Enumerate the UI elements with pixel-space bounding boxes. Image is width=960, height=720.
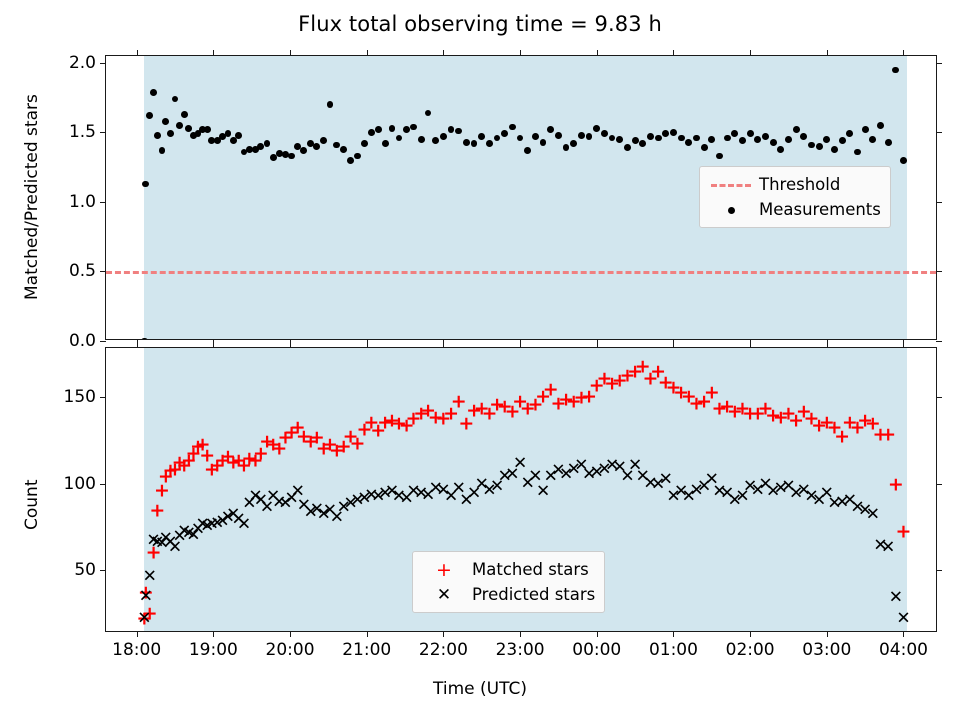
y-axis-title-count: Count: [22, 480, 42, 531]
legend-label-threshold: Threshold: [755, 175, 840, 194]
y-tick: [100, 132, 106, 133]
x-tick-top: [367, 50, 368, 56]
x-tick: [673, 631, 674, 637]
y-tick-label: 1.5: [69, 122, 96, 142]
x-tick-top: [367, 342, 368, 348]
x-tick-top: [290, 342, 291, 348]
data-point: [754, 136, 761, 143]
legend-item-threshold[interactable]: Threshold: [707, 172, 881, 197]
data-point: +: [888, 476, 904, 495]
data-point: [340, 146, 347, 153]
data-point: ✕: [536, 484, 550, 501]
data-point: [313, 143, 320, 150]
data-point: [762, 133, 769, 140]
x-tick-label: 02:00: [726, 640, 775, 660]
y-tick-right: [936, 484, 942, 485]
y-tick: [100, 202, 106, 203]
data-point: [578, 132, 585, 139]
x-tick: [443, 631, 444, 637]
data-point: ✕: [137, 611, 151, 628]
legend-label-predicted-stars: Predicted stars: [468, 585, 595, 604]
data-point: [854, 149, 861, 156]
data-point: [463, 139, 470, 146]
data-point: [204, 126, 211, 133]
data-point: [181, 111, 188, 118]
data-point: [185, 125, 192, 132]
legend-label-matched-stars: Matched stars: [468, 560, 589, 579]
y-tick-label: 150: [64, 387, 96, 407]
x-tick-top: [520, 342, 521, 348]
data-point: [418, 136, 425, 143]
data-point: ✕: [513, 456, 527, 473]
data-point: [616, 136, 623, 143]
y-tick-label: 100: [64, 474, 96, 494]
y-tick-right: [936, 132, 942, 133]
x-tick-top: [673, 342, 674, 348]
y-tick-right: [936, 63, 942, 64]
data-point: [739, 137, 746, 144]
x-tick-top: [750, 342, 751, 348]
legend-label-measurements: Measurements: [755, 200, 881, 219]
y-tick-right: [936, 271, 942, 272]
x-tick-top: [903, 342, 904, 348]
data-point: [382, 140, 389, 147]
x-tick-top: [827, 342, 828, 348]
y-tick-label: 0.0: [69, 331, 96, 351]
data-point: [486, 140, 493, 147]
legend-item-measurements[interactable]: Measurements: [707, 197, 881, 222]
data-point: [235, 132, 242, 139]
page-title: Flux total observing time = 9.83 h: [0, 12, 960, 36]
x-tick-label: 23:00: [496, 640, 545, 660]
data-point: [159, 147, 166, 154]
data-point: ✕: [143, 569, 157, 586]
x-tick: [367, 631, 368, 637]
data-point: [708, 136, 715, 143]
x-tick: [827, 631, 828, 637]
data-point: [869, 136, 876, 143]
cross-marker-icon: ✕: [420, 585, 468, 605]
data-point: [808, 142, 815, 149]
figure-canvas: Flux total observing time = 9.83 h 0.00.…: [0, 0, 960, 720]
y-tick-right: [936, 397, 942, 398]
y-tick-label: 0.5: [69, 261, 96, 281]
x-tick-top: [137, 342, 138, 348]
x-tick: [597, 631, 598, 637]
data-point: [361, 140, 368, 147]
x-tick-top: [213, 50, 214, 56]
y-tick-right: [936, 202, 942, 203]
y-tick-right: [936, 570, 942, 571]
data-point: [655, 135, 662, 142]
data-point: [831, 146, 838, 153]
data-point: [793, 126, 800, 133]
data-point: [770, 139, 777, 146]
y-tick-right: [936, 341, 942, 342]
y-tick: [100, 570, 106, 571]
y-tick-label: 2.0: [69, 53, 96, 73]
data-point: +: [880, 425, 896, 444]
x-tick-label: 20:00: [266, 640, 315, 660]
x-tick-label: 01:00: [649, 640, 698, 660]
data-point: [524, 147, 531, 154]
x-tick-top: [443, 50, 444, 56]
data-point: [389, 125, 396, 132]
data-point: [839, 137, 846, 144]
data-point: [701, 144, 708, 151]
y-tick-label: 50: [74, 560, 96, 580]
x-tick-label: 03:00: [802, 640, 851, 660]
data-point: +: [149, 502, 165, 521]
x-tick-label: 04:00: [879, 640, 928, 660]
data-point: [724, 135, 731, 142]
plus-marker-icon: +: [420, 559, 468, 581]
threshold-line: [106, 271, 936, 274]
y-tick: [100, 484, 106, 485]
data-point: [862, 126, 869, 133]
x-tick: [290, 631, 291, 637]
data-point: [823, 136, 830, 143]
data-point: [785, 136, 792, 143]
data-point: [440, 133, 447, 140]
data-point: [647, 133, 654, 140]
data-point: [678, 135, 685, 142]
x-axis-title: Time (UTC): [0, 679, 960, 699]
y-axis-title-ratio: Matched/Predicted stars: [22, 94, 42, 300]
data-point: [403, 126, 410, 133]
data-point: [777, 146, 784, 153]
data-point: [747, 130, 754, 137]
legend-count-panel[interactable]: + Matched stars ✕ Predicted stars: [412, 551, 605, 613]
x-tick-top: [750, 50, 751, 56]
y-tick: [100, 397, 106, 398]
data-point: [693, 135, 700, 142]
data-point: [685, 139, 692, 146]
data-point: [885, 139, 892, 146]
legend-item-predicted-stars[interactable]: ✕ Predicted stars: [420, 582, 595, 607]
data-point: [375, 126, 382, 133]
x-tick: [903, 631, 904, 637]
data-point: ✕: [889, 590, 903, 607]
data-point: ✕: [866, 506, 880, 523]
data-point: +: [451, 392, 467, 411]
x-tick-label: 00:00: [572, 640, 621, 660]
data-point: [624, 144, 631, 151]
data-point: [593, 125, 600, 132]
data-point: [154, 132, 161, 139]
y-tick: [100, 63, 106, 64]
x-tick-top: [597, 50, 598, 56]
data-point: [900, 157, 907, 164]
x-tick-label: 19:00: [189, 640, 238, 660]
x-tick-top: [903, 50, 904, 56]
data-point: ✕: [139, 588, 153, 605]
x-tick: [213, 631, 214, 637]
data-point: [150, 89, 157, 96]
data-point: [368, 129, 375, 136]
x-tick-top: [673, 50, 674, 56]
dashed-line-icon: [707, 175, 755, 194]
data-point: [555, 132, 562, 139]
x-tick: [750, 631, 751, 637]
data-point: ✕: [896, 611, 910, 628]
data-point: ✕: [881, 539, 895, 556]
data-point: [877, 122, 884, 129]
data-point: +: [896, 523, 912, 542]
y-tick: [100, 271, 106, 272]
y-tick: [100, 341, 106, 342]
data-point: [167, 130, 174, 137]
x-tick-top: [520, 50, 521, 56]
x-tick: [137, 631, 138, 637]
x-tick-top: [290, 50, 291, 56]
x-tick-top: [213, 342, 214, 348]
x-tick-top: [597, 342, 598, 348]
data-point: [816, 143, 823, 150]
dot-marker-icon: [707, 200, 755, 219]
data-point: [141, 338, 148, 339]
x-tick-label: 18:00: [112, 640, 161, 660]
data-point: [176, 122, 183, 129]
data-point: [670, 129, 677, 136]
legend-item-matched-stars[interactable]: + Matched stars: [420, 557, 595, 582]
x-tick: [520, 631, 521, 637]
x-tick-label: 21:00: [342, 640, 391, 660]
y-tick-label: 1.0: [69, 192, 96, 212]
data-point: [347, 157, 354, 164]
data-point: [162, 118, 169, 125]
data-point: [532, 133, 539, 140]
x-tick-top: [443, 342, 444, 348]
legend-ratio-panel[interactable]: Threshold Measurements: [699, 166, 891, 228]
x-tick-label: 22:00: [419, 640, 468, 660]
data-point: [509, 124, 516, 131]
x-tick-top: [827, 50, 828, 56]
data-point: [410, 124, 417, 131]
data-point: [540, 139, 547, 146]
data-point: ✕: [237, 517, 251, 534]
x-tick-top: [137, 50, 138, 56]
data-point: [632, 137, 639, 144]
